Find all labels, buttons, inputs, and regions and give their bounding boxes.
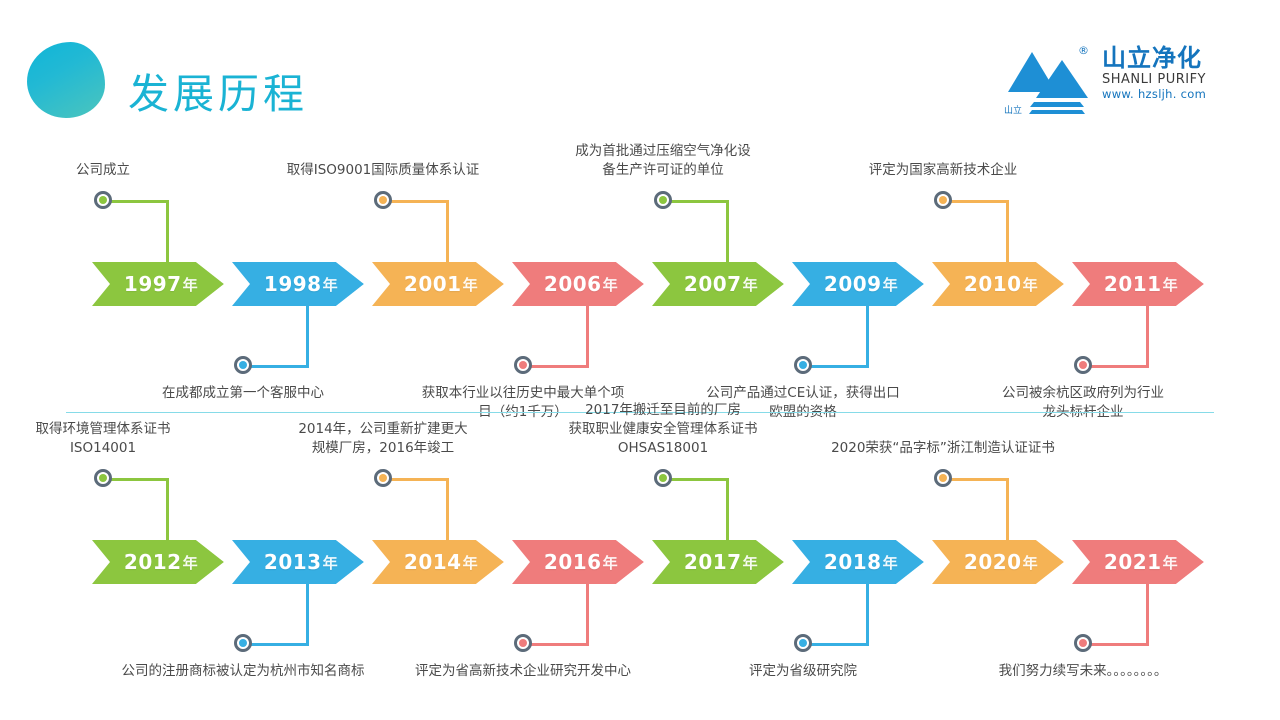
- milestone-caption-2013: 公司的注册商标被认定为杭州市知名商标: [103, 662, 383, 681]
- logo-name-en: SHANLI PURIFY: [1102, 72, 1222, 87]
- segment-year-suffix: 年: [463, 274, 479, 295]
- logo-website-url: www. hzsljh. com: [1102, 87, 1222, 102]
- connector-vertical: [166, 478, 169, 540]
- milestone-caption-2016: 评定为省高新技术企业研究开发中心: [383, 662, 663, 681]
- milestone-dot-core: [1079, 361, 1087, 369]
- segment-year-suffix: 年: [1163, 552, 1179, 573]
- connector-horizontal: [1083, 643, 1149, 646]
- timeline-segment-2011[interactable]: 2011年: [1060, 262, 1206, 306]
- milestone-caption-2021: 我们努力续写未来。。。。。。。。: [943, 662, 1223, 681]
- connector-vertical: [1006, 200, 1009, 262]
- connector-horizontal: [803, 643, 869, 646]
- segment-year-value: 2013: [264, 550, 322, 574]
- segment-year-suffix: 年: [603, 552, 619, 573]
- segment-knob-icon: [228, 276, 244, 292]
- connector-vertical: [1146, 306, 1149, 368]
- segment-year-label: 1997年: [80, 262, 226, 306]
- timeline-segment-2010[interactable]: 2010年: [920, 262, 1066, 306]
- timeline-segment-2009[interactable]: 2009年: [780, 262, 926, 306]
- milestone-dot-1998[interactable]: [234, 356, 252, 374]
- segment-year-suffix: 年: [883, 552, 899, 573]
- connector-vertical: [306, 306, 309, 368]
- connector-vertical: [866, 584, 869, 646]
- milestone-dot-core: [939, 196, 947, 204]
- connector-horizontal: [103, 200, 169, 203]
- milestone-dot-2013[interactable]: [234, 634, 252, 652]
- segment-year-value: 2007: [684, 272, 742, 296]
- slide-header: 发展历程 山立 ® 山立净化 SHANLI PURIFY www. hzsljh…: [0, 0, 1280, 140]
- segment-year-suffix: 年: [883, 274, 899, 295]
- timeline-segment-2013[interactable]: 2013年: [220, 540, 366, 584]
- segment-year-label: 2014年: [360, 540, 506, 584]
- milestone-dot-2012[interactable]: [94, 469, 112, 487]
- segment-knob-icon: [788, 554, 804, 570]
- segment-year-label: 2001年: [360, 262, 506, 306]
- milestone-dot-2014[interactable]: [374, 469, 392, 487]
- segment-year-suffix: 年: [743, 274, 759, 295]
- milestone-caption-2014: 2014年，公司重新扩建更大 规模厂房，2016年竣工: [243, 420, 523, 458]
- milestone-dot-core: [799, 639, 807, 647]
- segment-year-label: 2018年: [780, 540, 926, 584]
- segment-year-suffix: 年: [1163, 274, 1179, 295]
- slide-root: 发展历程 山立 ® 山立净化 SHANLI PURIFY www. hzsljh…: [0, 0, 1280, 720]
- segment-year-value: 2014: [404, 550, 462, 574]
- segment-year-label: 2020年: [920, 540, 1066, 584]
- segment-year-suffix: 年: [603, 274, 619, 295]
- milestone-dot-1997[interactable]: [94, 191, 112, 209]
- milestone-caption-2018: 评定为省级研究院: [663, 662, 943, 681]
- milestone-dot-core: [659, 196, 667, 204]
- registered-trademark-icon: ®: [1078, 44, 1089, 57]
- timeline-segment-1998[interactable]: 1998年: [220, 262, 366, 306]
- segment-knob-icon: [508, 276, 524, 292]
- segment-year-label: 2021年: [1060, 540, 1206, 584]
- timeline-row-1: 1997年1998年2001年2006年2007年2009年2010年2011年…: [0, 140, 1280, 440]
- timeline-segment-2001[interactable]: 2001年: [360, 262, 506, 306]
- blob-decoration-icon: [27, 42, 105, 118]
- segment-year-value: 2011: [1104, 272, 1162, 296]
- milestone-caption-2001: 取得ISO9001国际质量体系认证: [243, 161, 523, 180]
- connector-vertical: [726, 200, 729, 262]
- milestone-dot-2016[interactable]: [514, 634, 532, 652]
- milestone-dot-core: [659, 474, 667, 482]
- connector-horizontal: [383, 200, 449, 203]
- segment-year-label: 2016年: [500, 540, 646, 584]
- connector-vertical: [1006, 478, 1009, 540]
- segment-year-value: 2021: [1104, 550, 1162, 574]
- timeline-segment-2012[interactable]: 2012年: [80, 540, 226, 584]
- segment-knob-icon: [228, 554, 244, 570]
- milestone-dot-2018[interactable]: [794, 634, 812, 652]
- connector-vertical: [586, 584, 589, 646]
- connector-horizontal: [523, 643, 589, 646]
- milestone-dot-2009[interactable]: [794, 356, 812, 374]
- segment-year-value: 2018: [824, 550, 882, 574]
- segment-year-value: 1997: [124, 272, 182, 296]
- segment-year-label: 2010年: [920, 262, 1066, 306]
- segment-year-value: 2016: [544, 550, 602, 574]
- segment-knob-icon: [928, 554, 944, 570]
- connector-horizontal: [663, 200, 729, 203]
- milestone-caption-1998: 在成都成立第一个客服中心: [103, 384, 383, 403]
- segment-year-label: 2013年: [220, 540, 366, 584]
- connector-vertical: [446, 200, 449, 262]
- milestone-dot-core: [939, 474, 947, 482]
- segment-knob-icon: [88, 554, 104, 570]
- segment-year-label: 1998年: [220, 262, 366, 306]
- milestone-dot-core: [799, 361, 807, 369]
- segment-year-suffix: 年: [183, 274, 199, 295]
- segment-knob-icon: [88, 276, 104, 292]
- segment-year-value: 2020: [964, 550, 1022, 574]
- company-logo: 山立 ® 山立净化 SHANLI PURIFY www. hzsljh. com: [1002, 44, 1218, 122]
- connector-vertical: [306, 584, 309, 646]
- segment-year-label: 2012年: [80, 540, 226, 584]
- segment-year-suffix: 年: [323, 552, 339, 573]
- timeline-segment-2006[interactable]: 2006年: [500, 262, 646, 306]
- segment-knob-icon: [508, 554, 524, 570]
- milestone-caption-2010: 评定为国家高新技术企业: [803, 161, 1083, 180]
- connector-horizontal: [663, 478, 729, 481]
- segment-knob-icon: [368, 276, 384, 292]
- timeline-segment-2020[interactable]: 2020年: [920, 540, 1066, 584]
- segment-knob-icon: [648, 276, 664, 292]
- connector-horizontal: [243, 365, 309, 368]
- milestone-caption-2012: 取得环境管理体系证书 ISO14001: [0, 420, 243, 458]
- connector-vertical: [1146, 584, 1149, 646]
- milestone-dot-core: [1079, 639, 1087, 647]
- segment-year-value: 1998: [264, 272, 322, 296]
- segment-year-suffix: 年: [1023, 552, 1039, 573]
- connector-vertical: [726, 478, 729, 540]
- chevron-band-row-1: 1997年1998年2001年2006年2007年2009年2010年2011年: [80, 262, 1210, 306]
- timeline-segment-2016[interactable]: 2016年: [500, 540, 646, 584]
- segment-knob-icon: [928, 276, 944, 292]
- milestone-dot-2007[interactable]: [654, 191, 672, 209]
- milestone-caption-2017: 2017年搬迁至目前的厂房 获取职业健康安全管理体系证书 OHSAS18001: [523, 401, 803, 458]
- connector-horizontal: [943, 200, 1009, 203]
- milestone-dot-2020[interactable]: [934, 469, 952, 487]
- segment-knob-icon: [1068, 276, 1084, 292]
- milestone-dot-core: [239, 639, 247, 647]
- milestone-dot-core: [239, 361, 247, 369]
- connector-horizontal: [103, 478, 169, 481]
- milestone-dot-core: [519, 639, 527, 647]
- connector-horizontal: [243, 643, 309, 646]
- segment-year-suffix: 年: [743, 552, 759, 573]
- logo-name-cn: 山立净化: [1102, 44, 1222, 72]
- connector-horizontal: [1083, 365, 1149, 368]
- segment-year-value: 2017: [684, 550, 742, 574]
- milestone-dot-core: [519, 361, 527, 369]
- milestone-dot-2006[interactable]: [514, 356, 532, 374]
- timeline-segment-1997[interactable]: 1997年: [80, 262, 226, 306]
- connector-vertical: [866, 306, 869, 368]
- segment-year-value: 2009: [824, 272, 882, 296]
- connector-vertical: [166, 200, 169, 262]
- timeline-segment-2014[interactable]: 2014年: [360, 540, 506, 584]
- milestone-dot-2010[interactable]: [934, 191, 952, 209]
- timeline-segment-2017[interactable]: 2017年: [640, 540, 786, 584]
- milestone-dot-2001[interactable]: [374, 191, 392, 209]
- segment-year-value: 2006: [544, 272, 602, 296]
- timeline-segment-2018[interactable]: 2018年: [780, 540, 926, 584]
- segment-knob-icon: [1068, 554, 1084, 570]
- segment-knob-icon: [648, 554, 664, 570]
- timeline-segment-2021[interactable]: 2021年: [1060, 540, 1206, 584]
- segment-knob-icon: [368, 554, 384, 570]
- connector-vertical: [586, 306, 589, 368]
- segment-year-suffix: 年: [323, 274, 339, 295]
- logo-mark-label: 山立: [1004, 103, 1022, 116]
- connector-vertical: [446, 478, 449, 540]
- segment-year-suffix: 年: [183, 552, 199, 573]
- segment-year-label: 2009年: [780, 262, 926, 306]
- milestone-dot-2021[interactable]: [1074, 634, 1092, 652]
- milestone-caption-2007: 成为首批通过压缩空气净化设 备生产许可证的单位: [523, 142, 803, 180]
- chevron-band-row-2: 2012年2013年2014年2016年2017年2018年2020年2021年: [80, 540, 1210, 584]
- segment-year-value: 2010: [964, 272, 1022, 296]
- segment-year-label: 2011年: [1060, 262, 1206, 306]
- page-title: 发展历程: [128, 60, 308, 120]
- connector-horizontal: [383, 478, 449, 481]
- milestone-dot-core: [99, 196, 107, 204]
- segment-knob-icon: [788, 276, 804, 292]
- milestone-dot-2017[interactable]: [654, 469, 672, 487]
- segment-year-value: 2001: [404, 272, 462, 296]
- segment-year-label: 2007年: [640, 262, 786, 306]
- milestone-dot-core: [379, 196, 387, 204]
- timeline-row-2: 2012年2013年2014年2016年2017年2018年2020年2021年…: [0, 415, 1280, 715]
- connector-horizontal: [523, 365, 589, 368]
- timeline-segment-2007[interactable]: 2007年: [640, 262, 786, 306]
- segment-year-label: 2017年: [640, 540, 786, 584]
- connector-horizontal: [943, 478, 1009, 481]
- milestone-caption-1997: 公司成立: [0, 161, 243, 180]
- milestone-dot-2011[interactable]: [1074, 356, 1092, 374]
- segment-year-suffix: 年: [463, 552, 479, 573]
- milestone-dot-core: [379, 474, 387, 482]
- milestone-caption-2020: 2020荣获“品字标”浙江制造认证证书: [803, 439, 1083, 458]
- segment-year-value: 2012: [124, 550, 182, 574]
- segment-year-suffix: 年: [1023, 274, 1039, 295]
- segment-year-label: 2006年: [500, 262, 646, 306]
- connector-horizontal: [803, 365, 869, 368]
- milestone-dot-core: [99, 474, 107, 482]
